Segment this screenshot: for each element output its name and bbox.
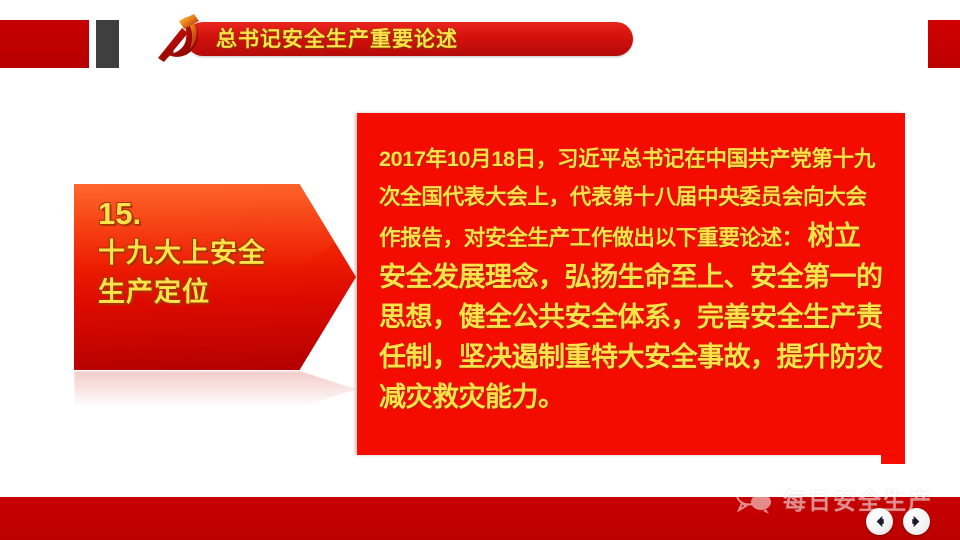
decor-block-gray (96, 20, 119, 68)
decor-block-red-right (928, 20, 960, 68)
callout-line-1: 十九大上安全 (98, 234, 308, 273)
wechat-icon (735, 483, 775, 515)
decor-block-red-left (0, 20, 89, 68)
section-callout-arrow: 15. 十九大上安全 生产定位 (74, 184, 356, 370)
callout-text-group: 15. 十九大上安全 生产定位 (98, 194, 308, 312)
page-title: 总书记安全生产重要论述 (216, 27, 616, 53)
callout-line-2: 生产定位 (98, 273, 308, 312)
content-intro-text: 2017年10月18日，习近平总书记在中国共产党第十九次全国代表大会上，代表第十… (379, 147, 875, 250)
slide-nav-controls[interactable] (866, 508, 930, 535)
callout-reflection (74, 371, 356, 423)
party-hammer-sickle-emblem-icon (146, 12, 208, 64)
content-panel: 2017年10月18日，习近平总书记在中国共产党第十九次全国代表大会上，代表第十… (357, 113, 903, 455)
prev-slide-button[interactable] (866, 508, 893, 535)
slide-canvas: 总书记安全生产重要论述 15. 十九大上安全 生产定位 2017年10月18日，… (0, 0, 960, 540)
callout-number: 15. (98, 194, 308, 234)
next-slide-button[interactable] (903, 508, 930, 535)
content-text-group: 2017年10月18日，习近平总书记在中国共产党第十九次全国代表大会上，代表第十… (379, 140, 885, 417)
